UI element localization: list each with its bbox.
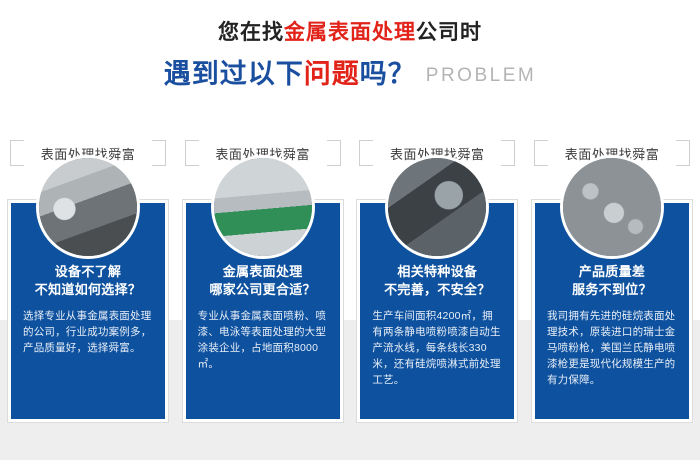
- problem-card[interactable]: 表面处理找舜富 相关特种设备 不完善，不安全？ 生产车间面积4200㎡，拥有两条…: [357, 138, 517, 428]
- card-body-text: 生产车间面积4200㎡，拥有两条静电喷粉喷漆自动生产流水线，每条线长330米，还…: [372, 308, 502, 388]
- card-title-line-1: 设备不了解: [11, 263, 165, 281]
- problem-card[interactable]: 表面处理找舜富 金属表面处理 哪家公司更合适？ 专业从事金属表面喷粉、喷漆、电泳…: [183, 138, 343, 428]
- bracket-bottom-left-icon: [10, 152, 24, 166]
- heading-line1-suffix: 公司时: [416, 21, 482, 44]
- heading-line2-part-b: 下: [276, 59, 304, 89]
- bracket-bottom-left-icon: [359, 152, 373, 166]
- card-panel: 相关特种设备 不完善，不安全？ 生产车间面积4200㎡，拥有两条静电喷粉喷漆自动…: [357, 200, 517, 422]
- heading-line2-part-c: 问题: [304, 59, 360, 89]
- heading-line-2: 遇到过以下问题吗？PROBLEM: [0, 56, 700, 94]
- card-title-line-1: 金属表面处理: [186, 263, 340, 281]
- problem-section-page: 您在找金属表面处理公司时 遇到过以下问题吗？PROBLEM 表面处理找舜富 设备…: [0, 0, 700, 460]
- bracket-bottom-right-icon: [676, 152, 690, 166]
- card-panel: 产品质量差 服务不到位？ 我司拥有先进的硅烷表面处理技术，原装进口的瑞士金马喷粉…: [532, 200, 692, 422]
- problem-card[interactable]: 表面处理找舜富 设备不了解 不知道如何选择？ 选择专业从事金属表面处理的公司，行…: [8, 138, 168, 428]
- card-body-text: 我司拥有先进的硅烷表面处理技术，原装进口的瑞士金马喷粉枪，美国兰氏静电喷漆枪更是…: [547, 308, 677, 388]
- bracket-bottom-right-icon: [501, 152, 515, 166]
- bracket-bottom-left-icon: [185, 152, 199, 166]
- card-body-text: 选择专业从事金属表面处理的公司，行业成功案例多，产品质量好，选择舜富。: [23, 308, 153, 356]
- card-title-line-2: 哪家公司更合适？: [186, 281, 340, 299]
- card-photo: [385, 155, 489, 259]
- card-title-line-1: 产品质量差: [535, 263, 689, 281]
- card-panel: 金属表面处理 哪家公司更合适？ 专业从事金属表面喷粉、喷漆、电泳等表面处理的大型…: [183, 200, 343, 422]
- card-title-line-2: 不知道如何选择？: [11, 281, 165, 299]
- bolts-and-nuts-photo: [563, 158, 661, 256]
- bracket-bottom-left-icon: [534, 152, 548, 166]
- heading-line-1: 您在找金属表面处理公司时: [0, 18, 700, 48]
- problem-card[interactable]: 表面处理找舜富 产品质量差 服务不到位？ 我司拥有先进的硅烷表面处理技术，原装进…: [532, 138, 692, 428]
- card-body-text: 专业从事金属表面喷粉、喷漆、电泳等表面处理的大型涂装企业，占地面积8000㎡。: [198, 308, 328, 372]
- heading-line2-part-d: 吗？: [360, 59, 416, 89]
- bracket-bottom-right-icon: [327, 152, 341, 166]
- card-title-line-2: 不完善，不安全？: [360, 281, 514, 299]
- section-heading: 您在找金属表面处理公司时 遇到过以下问题吗？PROBLEM: [0, 18, 700, 94]
- factory-corridor-photo: [214, 158, 312, 256]
- heading-english-label: PROBLEM: [426, 65, 536, 86]
- lathe-machining-photo: [39, 158, 137, 256]
- heading-line2-part-a: 遇到过以: [164, 59, 276, 89]
- machine-parts-photo: [388, 158, 486, 256]
- card-photo: [560, 155, 664, 259]
- heading-line1-prefix: 您在找: [218, 21, 284, 44]
- bracket-bottom-right-icon: [152, 152, 166, 166]
- card-photo: [211, 155, 315, 259]
- card-title-line-1: 相关特种设备: [360, 263, 514, 281]
- card-photo: [36, 155, 140, 259]
- heading-line1-highlight: 金属表面处理: [284, 21, 416, 44]
- card-title-line-2: 服务不到位？: [535, 281, 689, 299]
- problem-card-grid: 表面处理找舜富 设备不了解 不知道如何选择？ 选择专业从事金属表面处理的公司，行…: [8, 138, 692, 428]
- card-panel: 设备不了解 不知道如何选择？ 选择专业从事金属表面处理的公司，行业成功案例多，产…: [8, 200, 168, 422]
